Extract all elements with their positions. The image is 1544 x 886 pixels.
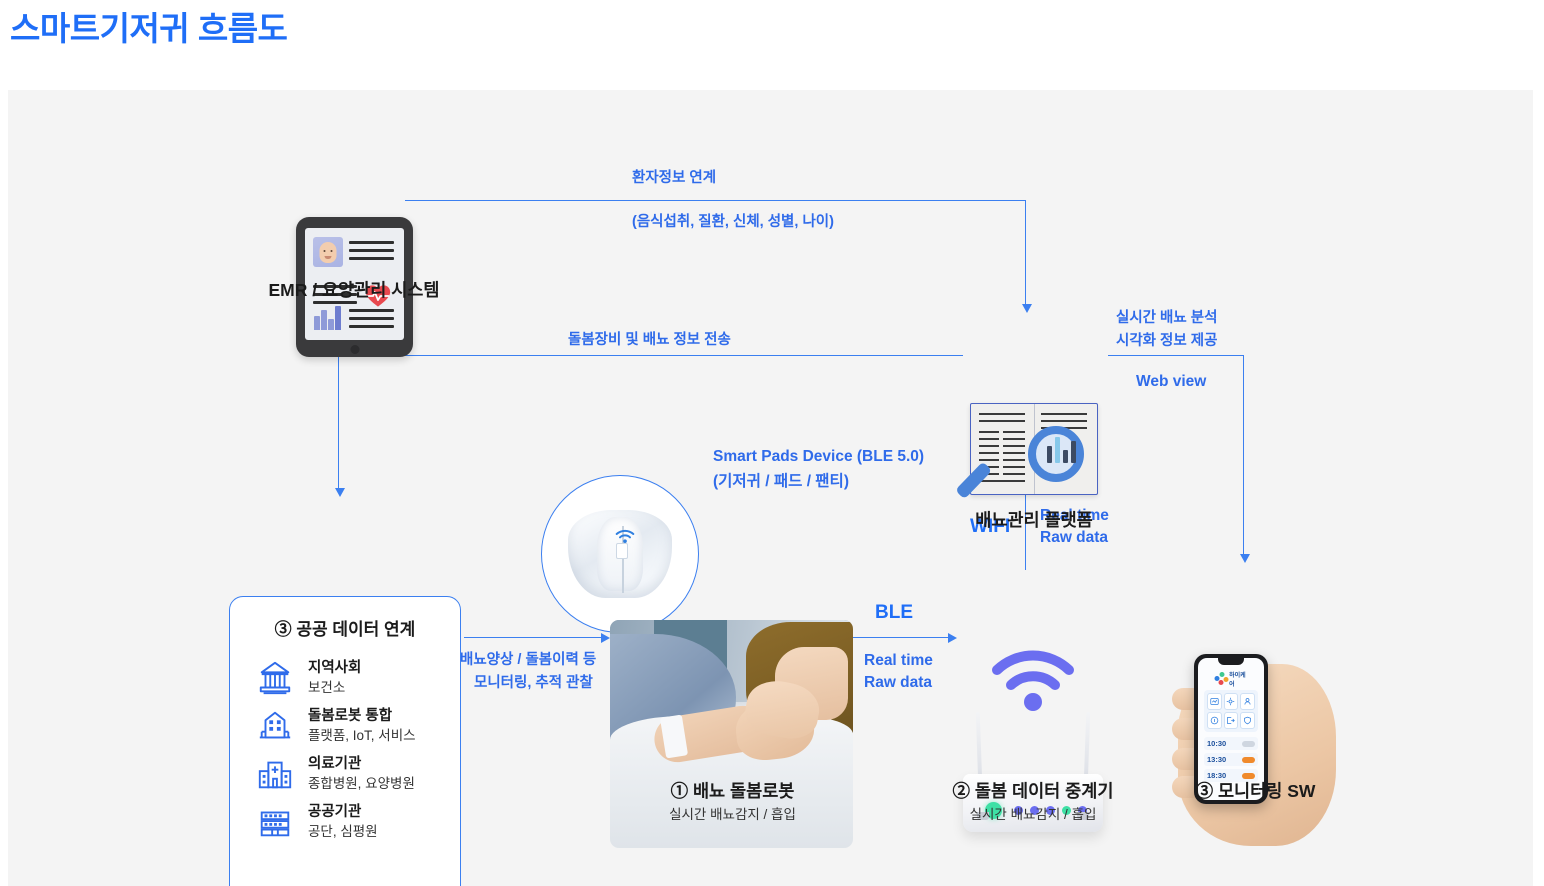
app-row-status	[1242, 741, 1255, 747]
app-row-status	[1242, 757, 1255, 763]
connector-platform-phone-vertical-arrow	[1243, 355, 1244, 555]
patient-face-icon	[313, 237, 343, 267]
gateway-title: ② 돌봄 데이터 중계기	[928, 778, 1138, 803]
edge-label-platform-public: 돌봄장비 및 배뇨 정보 전송	[568, 330, 731, 351]
app-tile-chart-icon[interactable]	[1207, 693, 1222, 710]
care-facility-icon	[256, 707, 294, 745]
edge-label-ble-line1: Real time	[864, 650, 933, 671]
public-item-name: 의료기관	[308, 756, 361, 772]
public-item-name: 돌봄로봇 통합	[308, 708, 392, 724]
list-item[interactable]: 지역사회 보건소	[230, 654, 460, 702]
app-logo-mark	[1215, 672, 1227, 686]
edge-label-ble: BLE	[875, 602, 913, 624]
magnifier-icon	[1028, 426, 1084, 482]
edge-label-ble-line2: Raw data	[864, 672, 932, 693]
care-robot-title: ① 배뇨 돌봄로봇	[611, 778, 854, 803]
public-data-list: 지역사회 보건소 돌봄로봇 통합 플랫폼, IoT, 서비스	[230, 654, 460, 846]
connector-emr-vertical-arrow	[1025, 200, 1026, 305]
public-item-name: 지역사회	[308, 660, 361, 676]
diagram-canvas: 환자정보 연계 (음식섭취, 질환, 신체, 성별, 나이) 돌봄장비 및 배뇨…	[8, 90, 1533, 886]
app-logo: 하이케어	[1215, 670, 1248, 688]
list-item[interactable]: 13:30	[1204, 753, 1258, 766]
connector-platform-public-horizontal	[338, 355, 963, 356]
chart-bars-icon	[314, 304, 344, 330]
app-logo-text: 하이케어	[1229, 670, 1247, 688]
edge-label-platform-phone-line2: 시각화 정보 제공	[1116, 331, 1217, 352]
edge-label-platform-phone-line1: 실시간 배뇨 분석	[1116, 308, 1217, 329]
edge-label-public-robot-line2: 모니터링, 추적 관찰	[474, 673, 593, 694]
wifi-signal-icon	[615, 529, 635, 545]
edge-label-emr-bottom: (음식섭취, 질환, 신체, 성별, 나이)	[632, 212, 834, 233]
connector-platform-phone-horizontal	[1108, 355, 1243, 356]
app-tile-settings-icon[interactable]	[1224, 693, 1239, 710]
connector-emr-horizontal	[405, 200, 1025, 201]
government-building-icon	[256, 659, 294, 697]
diagram-root: 스마트기저귀 흐름도 환자정보 연계 (음식섭취, 질환, 신체, 성별, 나이…	[0, 0, 1544, 886]
list-item[interactable]: 공공기관 공단, 심평원	[230, 798, 460, 846]
app-tile-info-icon[interactable]	[1207, 712, 1222, 729]
public-item-desc: 종합병원, 요양병원	[308, 776, 415, 791]
list-item[interactable]: 10:30	[1204, 737, 1258, 750]
public-item-desc: 보건소	[308, 680, 345, 695]
list-item[interactable]: 돌봄로봇 통합 플랫폼, IoT, 서비스	[230, 702, 460, 750]
page-title: 스마트기저귀 흐름도	[10, 2, 287, 50]
platform-icon	[970, 403, 1098, 495]
smart-pads-label-line1: Smart Pads Device (BLE 5.0)	[713, 446, 924, 467]
edge-label-web-view: Web view	[1136, 371, 1206, 392]
edge-label-emr-top: 환자정보 연계	[632, 168, 716, 189]
public-institution-icon	[256, 803, 294, 841]
app-row-time: 13:30	[1207, 755, 1226, 764]
care-robot-sub: 실시간 배뇨감지 / 흡입	[611, 803, 854, 823]
app-tile-grid[interactable]	[1204, 690, 1258, 732]
gateway-sub: 실시간 배뇨감지 / 흡입	[928, 803, 1138, 823]
public-data-card-title: ③ 공공 데이터 연계	[230, 615, 460, 640]
app-tile-user-icon[interactable]	[1240, 693, 1255, 710]
monitoring-phone-icon: 하이케어 10:30	[1166, 648, 1344, 848]
smart-pads-icon	[541, 475, 699, 633]
public-item-desc: 플랫폼, IoT, 서비스	[308, 728, 416, 743]
app-tile-logout-icon[interactable]	[1224, 712, 1239, 729]
public-item-desc: 공단, 심평원	[308, 824, 378, 839]
public-data-card: ③ 공공 데이터 연계 지역사회 보건소 돌봄로봇	[229, 596, 461, 886]
public-item-name: 공공기관	[308, 804, 361, 820]
connector-platform-public-vertical-arrow	[338, 355, 339, 489]
hospital-icon	[256, 755, 294, 793]
app-row-time: 10:30	[1207, 739, 1226, 748]
list-item[interactable]: 의료기관 종합병원, 요양병원	[230, 750, 460, 798]
platform-label: 배뇨관리 플랫폼	[954, 507, 1114, 532]
router-wifi-icon	[992, 650, 1074, 712]
app-tile-shield-icon[interactable]	[1240, 712, 1255, 729]
edge-label-public-robot-line1: 배뇨양상 / 돌봄이력 등	[460, 650, 596, 671]
emr-label: EMR / 요양관리 시스템	[254, 277, 454, 302]
monitoring-sw-title: ③ 모니터링 SW	[1148, 778, 1363, 803]
connector-robot-gateway-arrow	[853, 637, 948, 638]
connector-public-robot-arrow	[464, 637, 601, 638]
smart-pads-label-line2: (기저귀 / 패드 / 팬티)	[713, 471, 849, 492]
